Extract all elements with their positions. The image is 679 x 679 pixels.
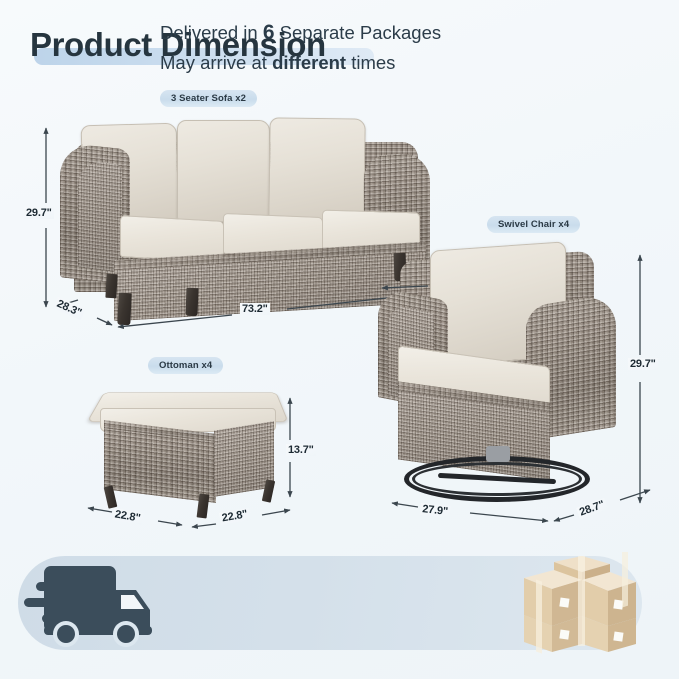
delivery-line2-emphasis: different [272, 52, 346, 73]
package-count: 6 [263, 21, 275, 44]
delivery-truck-icon [22, 556, 162, 652]
delivery-banner-text: Delivered in 6 Separate Packages May arr… [160, 18, 441, 78]
delivery-line1-post: Separate Packages [275, 22, 442, 43]
delivery-line1-pre: Delivered in [160, 22, 263, 43]
delivery-line-2: May arrive at different times [160, 48, 441, 78]
stacked-boxes-icon [510, 552, 645, 658]
delivery-line2-pre: May arrive at [160, 52, 272, 73]
infographic-canvas: Product Dimension 3 Seater Sofa x2 Swive… [0, 0, 679, 679]
chair-height-value: 29.7" [628, 358, 658, 370]
delivery-line2-post: times [346, 52, 395, 73]
delivery-line-1: Delivered in 6 Separate Packages [160, 18, 441, 48]
